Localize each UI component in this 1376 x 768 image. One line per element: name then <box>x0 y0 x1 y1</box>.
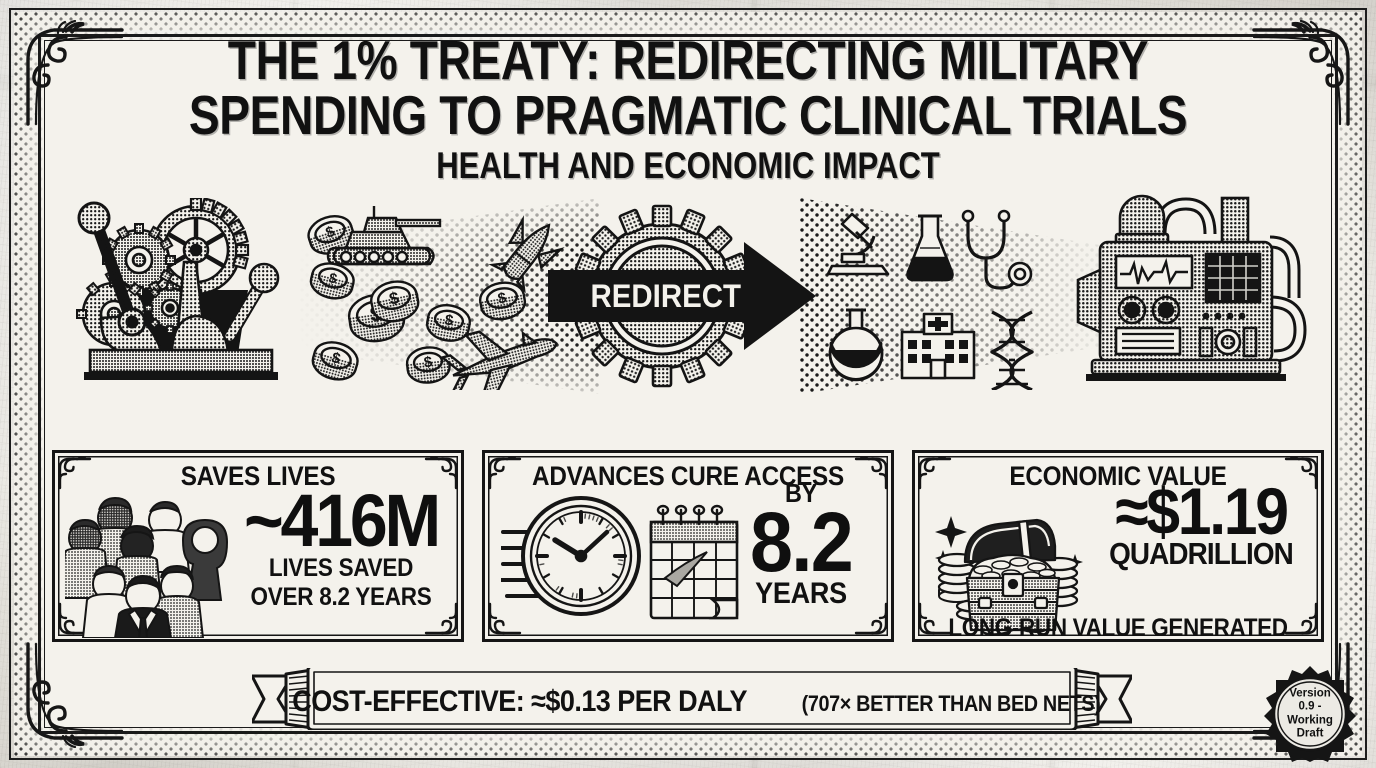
infographic-poster: THE 1% TREATY: REDIRECTING MILITARY SPEN… <box>0 0 1376 768</box>
panel-2-sub-line-1: YEARS <box>729 579 873 610</box>
panel-3-sub-line-1: QUADRILLION <box>1095 538 1307 570</box>
panel-1-stat-block: ~416M LIVES SAVED OVER 8.2 YEARS <box>225 488 457 610</box>
panel-1-sub-line-1: LIVES SAVED <box>237 556 446 582</box>
flow-diagram: $ $ $ <box>0 192 1376 402</box>
crowd-of-people-icon <box>65 488 241 638</box>
panel-cure-access: ADVANCES CURE ACCESS <box>482 450 894 642</box>
version-seal-text: Version 0.9 - Working Draft <box>1262 687 1358 740</box>
title-line-1: THE 1% TREATY: REDIRECTING MILITARY <box>110 34 1266 87</box>
medical-icons-group <box>826 206 1082 390</box>
stat-panels: SAVES LIVES <box>52 450 1324 642</box>
ribbon-main-text: COST-EFFECTIVE: ≈$0.13 PER DALY <box>292 685 747 719</box>
panel-2-stat: 8.2 <box>727 506 874 580</box>
page-subtitle: HEALTH AND ECONOMIC IMPACT <box>110 148 1266 184</box>
redirect-arrow: REDIRECT <box>548 194 858 398</box>
page-title: THE 1% TREATY: REDIRECTING MILITARY SPEN… <box>0 34 1376 183</box>
cost-effectiveness-ribbon: COST-EFFECTIVE: ≈$0.13 PER DALY (707× BE… <box>252 668 1132 730</box>
title-line-2: SPENDING TO PRAGMATIC CLINICAL TRIALS <box>110 89 1266 142</box>
gear-machine-icon <box>66 198 296 394</box>
redirect-label: REDIRECT <box>591 278 742 314</box>
panel-3-stat: ≈$1.19 <box>1092 482 1309 540</box>
version-seal-line-3: Working <box>1262 714 1358 727</box>
version-seal-line-1: Version <box>1262 687 1358 700</box>
version-seal-line-4: Draft <box>1262 727 1358 740</box>
panel-1-sub-line-2: OVER 8.2 YEARS <box>237 585 446 611</box>
medical-machine-icon <box>1074 194 1324 394</box>
military-icons-group: $ $ $ <box>306 206 580 390</box>
ribbon-paren-text: (707× BETTER THAN BED NETS) <box>801 691 1100 717</box>
panel-3-stat-block: ≈$1.19 QUADRILLION <box>1083 482 1319 570</box>
panel-3-footer: LONG-RUN VALUE GENERATED <box>935 614 1300 643</box>
clock-and-calendar-icon <box>501 490 751 638</box>
panel-1-stat: ~416M <box>234 488 447 553</box>
version-seal-line-2: 0.9 - <box>1262 701 1358 714</box>
panel-2-stat-block: BY 8.2 YEARS <box>721 480 881 610</box>
version-seal-badge: Version 0.9 - Working Draft <box>1262 666 1358 762</box>
panel-economic-value: ECONOMIC VALUE <box>912 450 1324 642</box>
panel-saves-lives: SAVES LIVES <box>52 450 464 642</box>
